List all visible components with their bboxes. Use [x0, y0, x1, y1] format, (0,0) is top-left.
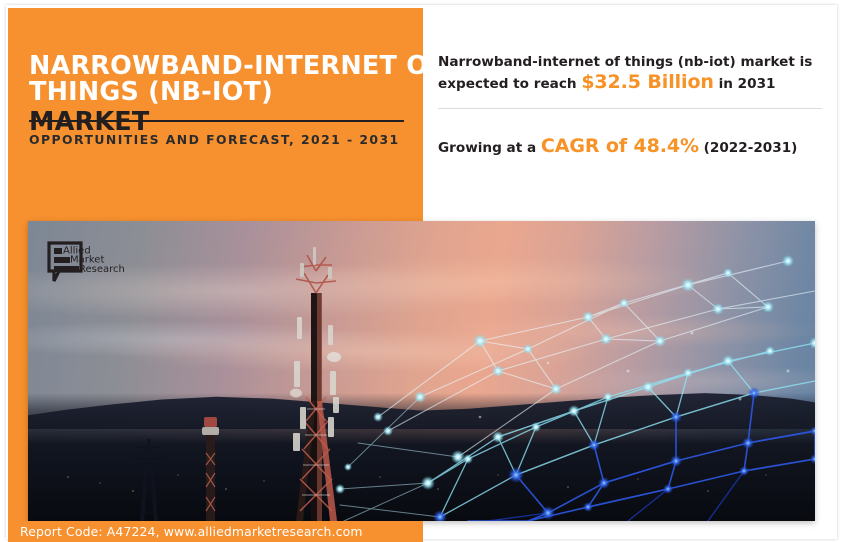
- logo-text-line-3: Research: [79, 264, 125, 275]
- stat-cagr-highlight: CAGR of 48.4%: [541, 135, 699, 157]
- stat-cagr-prefix: Growing at a: [438, 140, 541, 156]
- stat-market-value-suffix: in 2031: [714, 76, 776, 92]
- title-panel: NARROWBAND-INTERNET OF THINGS (NB-IOT) M…: [8, 8, 423, 220]
- footer-report-code: Report Code: A47224, www.alliedmarketres…: [20, 524, 363, 539]
- stat-cagr-suffix: (2022-2031): [699, 140, 797, 156]
- logo-bar-1: [54, 248, 62, 254]
- logo-icon: Allied Market Research: [47, 241, 133, 285]
- stat-cagr: Growing at a CAGR of 48.4% (2022-2031): [438, 136, 822, 158]
- page-subtitle: OPPORTUNITIES AND FORECAST, 2021 - 2031: [29, 131, 401, 149]
- cell-tower: [290, 247, 341, 521]
- hero-photo: [28, 221, 815, 521]
- title-divider-rule: [29, 120, 404, 122]
- network-mesh-nodes: [335, 255, 815, 521]
- photo-overlay-svg: [28, 221, 815, 521]
- allied-market-research-logo: Allied Market Research: [47, 241, 133, 285]
- logo-bar-3: [54, 266, 79, 272]
- stats-divider: [438, 108, 822, 109]
- infographic-page: NARROWBAND-INTERNET OF THINGS (NB-IOT) M…: [0, 0, 847, 542]
- page-title-line-2: THINGS (NB-IOT): [29, 80, 403, 106]
- page-title-line-1: NARROWBAND-INTERNET OF: [29, 54, 403, 80]
- logo-bar-2: [54, 257, 70, 263]
- stat-market-value-highlight: $32.5 Billion: [581, 71, 714, 93]
- lattice-mast-right: [202, 417, 219, 521]
- power-pylon: [134, 439, 164, 521]
- stats-panel: Narrowband-internet of things (nb-iot) m…: [424, 8, 832, 220]
- stat-market-value: Narrowband-internet of things (nb-iot) m…: [438, 52, 822, 94]
- network-mesh-links: [340, 261, 815, 521]
